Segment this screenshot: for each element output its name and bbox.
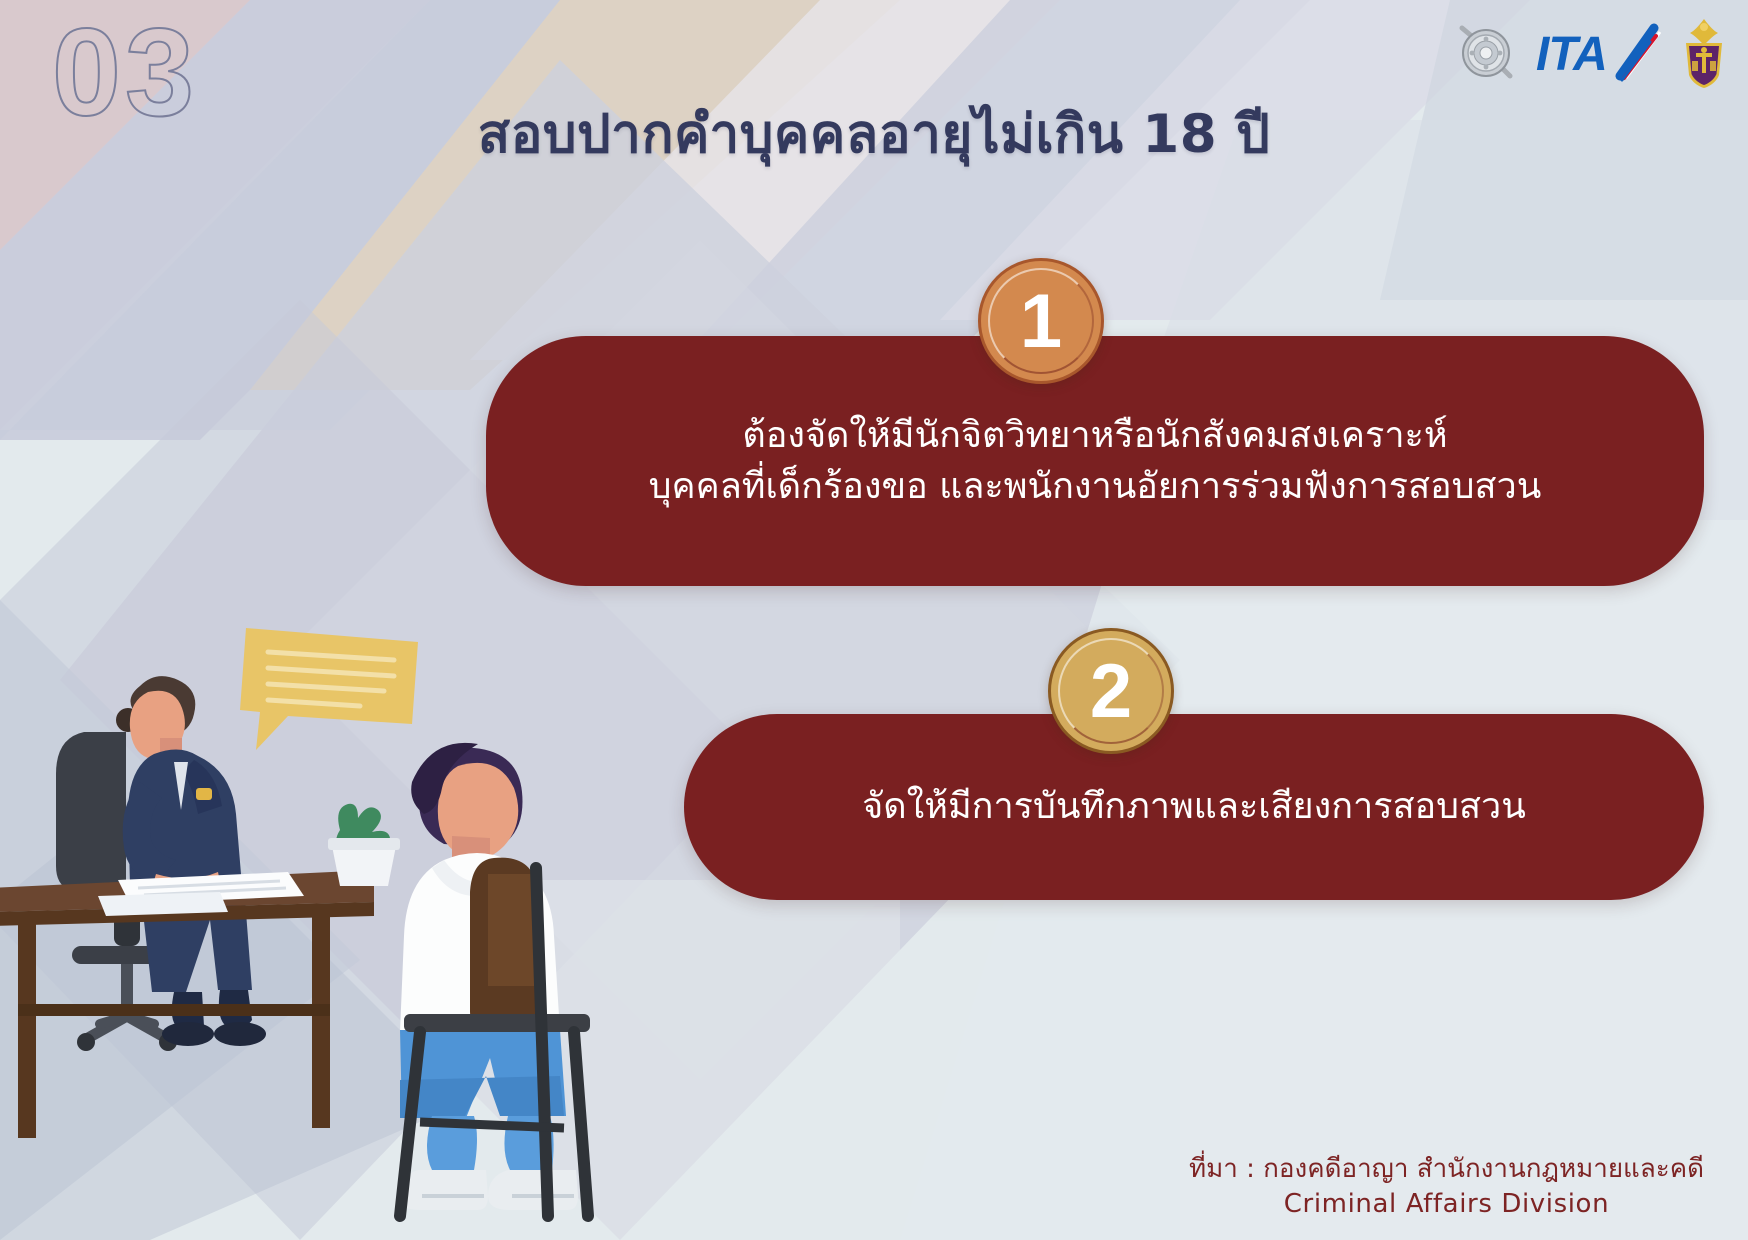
officer-interviewing-youth-illustration (0, 620, 648, 1240)
badge-number-2: 2 (1048, 628, 1174, 754)
royal-thai-police-silver-seal-icon (1450, 14, 1522, 92)
ita-logo-icon: ITA (1536, 22, 1664, 84)
info-card-2: จัดให้มีการบันทึกภาพและเสียงการสอบสวน (684, 714, 1704, 900)
info-card-2-line1: จัดให้มีการบันทึกภาพและเสียงการสอบสวน (862, 781, 1526, 832)
info-card-1-line2: บุคคลที่เด็กร้องขอ และพนักงานอัยการร่วมฟ… (649, 461, 1542, 512)
royal-thai-police-emblem-icon (1678, 17, 1730, 89)
footer-source-en: Criminal Affairs Division (1189, 1187, 1704, 1222)
logo-bar: ITA (1450, 14, 1730, 92)
footer-source: ที่มา : กองคดีอาญา สำนักงานกฎหมายและคดี … (1189, 1152, 1704, 1222)
badge-number-1: 1 (978, 258, 1104, 384)
speech-bubble-icon (240, 628, 418, 750)
police-officer-figure (116, 676, 266, 1046)
footer-source-th: ที่มา : กองคดีอาญา สำนักงานกฎหมายและคดี (1189, 1152, 1704, 1187)
svg-text:ITA: ITA (1536, 28, 1607, 81)
infographic-canvas: 03 ITA (0, 0, 1748, 1240)
info-card-1: ต้องจัดให้มีนักจิตวิทยาหรือนักสังคมสงเคร… (486, 336, 1704, 586)
info-card-2-text: จัดให้มีการบันทึกภาพและเสียงการสอบสวน (804, 781, 1584, 832)
info-card-1-line1: ต้องจัดให้มีนักจิตวิทยาหรือนักสังคมสงเคร… (649, 410, 1542, 461)
potted-plant (328, 804, 400, 886)
page-title: สอบปากคำบุคคลอายุไม่เกิน 18 ปี (0, 92, 1748, 176)
info-card-1-text: ต้องจัดให้มีนักจิตวิทยาหรือนักสังคมสงเคร… (591, 410, 1600, 512)
